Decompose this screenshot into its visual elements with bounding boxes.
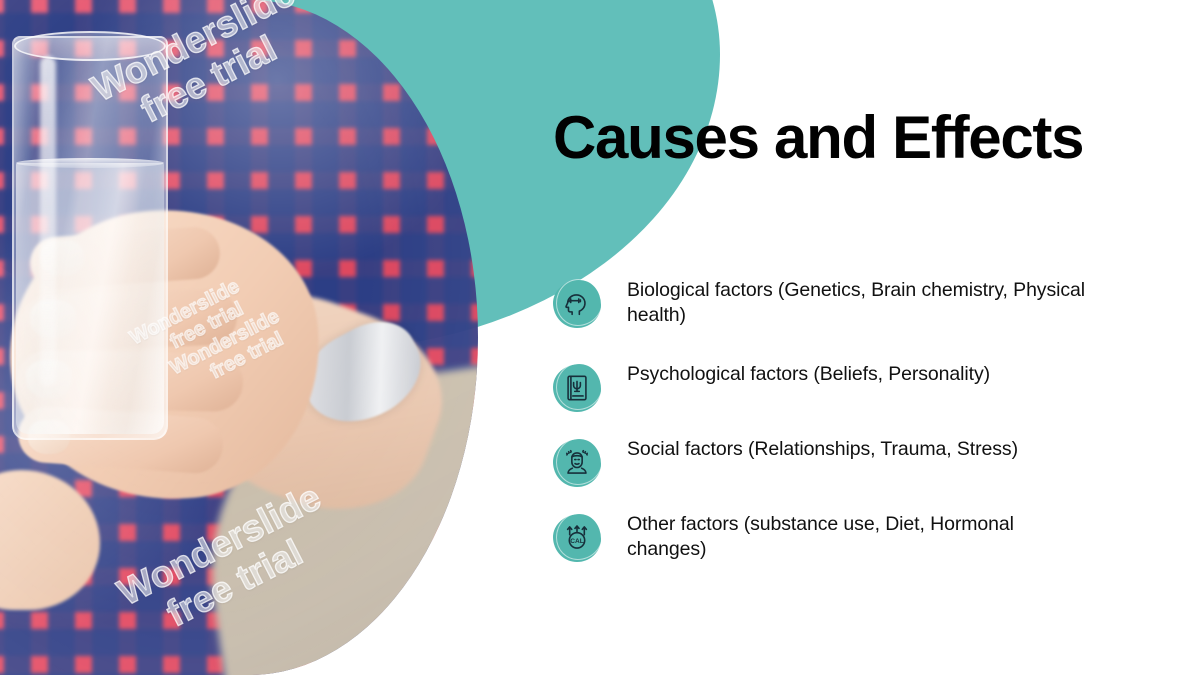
glass-highlight — [40, 56, 56, 386]
water-body — [16, 163, 164, 434]
list-item: Psychological factors (Beliefs, Personal… — [553, 362, 1153, 412]
bullet-icon-badge — [553, 364, 601, 412]
glass-rim — [14, 31, 166, 61]
head-dumbbell-icon — [562, 289, 592, 319]
content-column: Causes and Effects Biological factors (G… — [553, 0, 1153, 675]
slide-title: Causes and Effects — [553, 106, 1113, 169]
list-item-label: Other factors (substance use, Diet, Horm… — [627, 512, 1097, 562]
svg-text:CAL: CAL — [570, 538, 583, 545]
list-item-label: Biological factors (Genetics, Brain chem… — [627, 278, 1097, 328]
calorie-icon: CAL — [562, 523, 592, 553]
list-item: Biological factors (Genetics, Brain chem… — [553, 278, 1153, 328]
bullet-icon-badge — [553, 280, 601, 328]
photo-image — [0, 0, 478, 675]
slide-canvas: Wonderslide free trial Wonderslide free … — [0, 0, 1200, 675]
stressed-face-icon — [562, 448, 592, 478]
list-item: Social factors (Relationships, Trauma, S… — [553, 437, 1153, 487]
bullet-icon-badge — [553, 439, 601, 487]
water-glass — [12, 36, 168, 440]
bullet-icon-badge: CAL — [553, 514, 601, 562]
water-surface-line — [16, 158, 164, 168]
hero-photo — [0, 0, 478, 675]
list-item: CAL Other factors (substance use, Diet, … — [553, 512, 1153, 562]
psychology-book-icon — [562, 373, 592, 403]
list-item-label: Social factors (Relationships, Trauma, S… — [627, 437, 1018, 462]
list-item-label: Psychological factors (Beliefs, Personal… — [627, 362, 990, 387]
